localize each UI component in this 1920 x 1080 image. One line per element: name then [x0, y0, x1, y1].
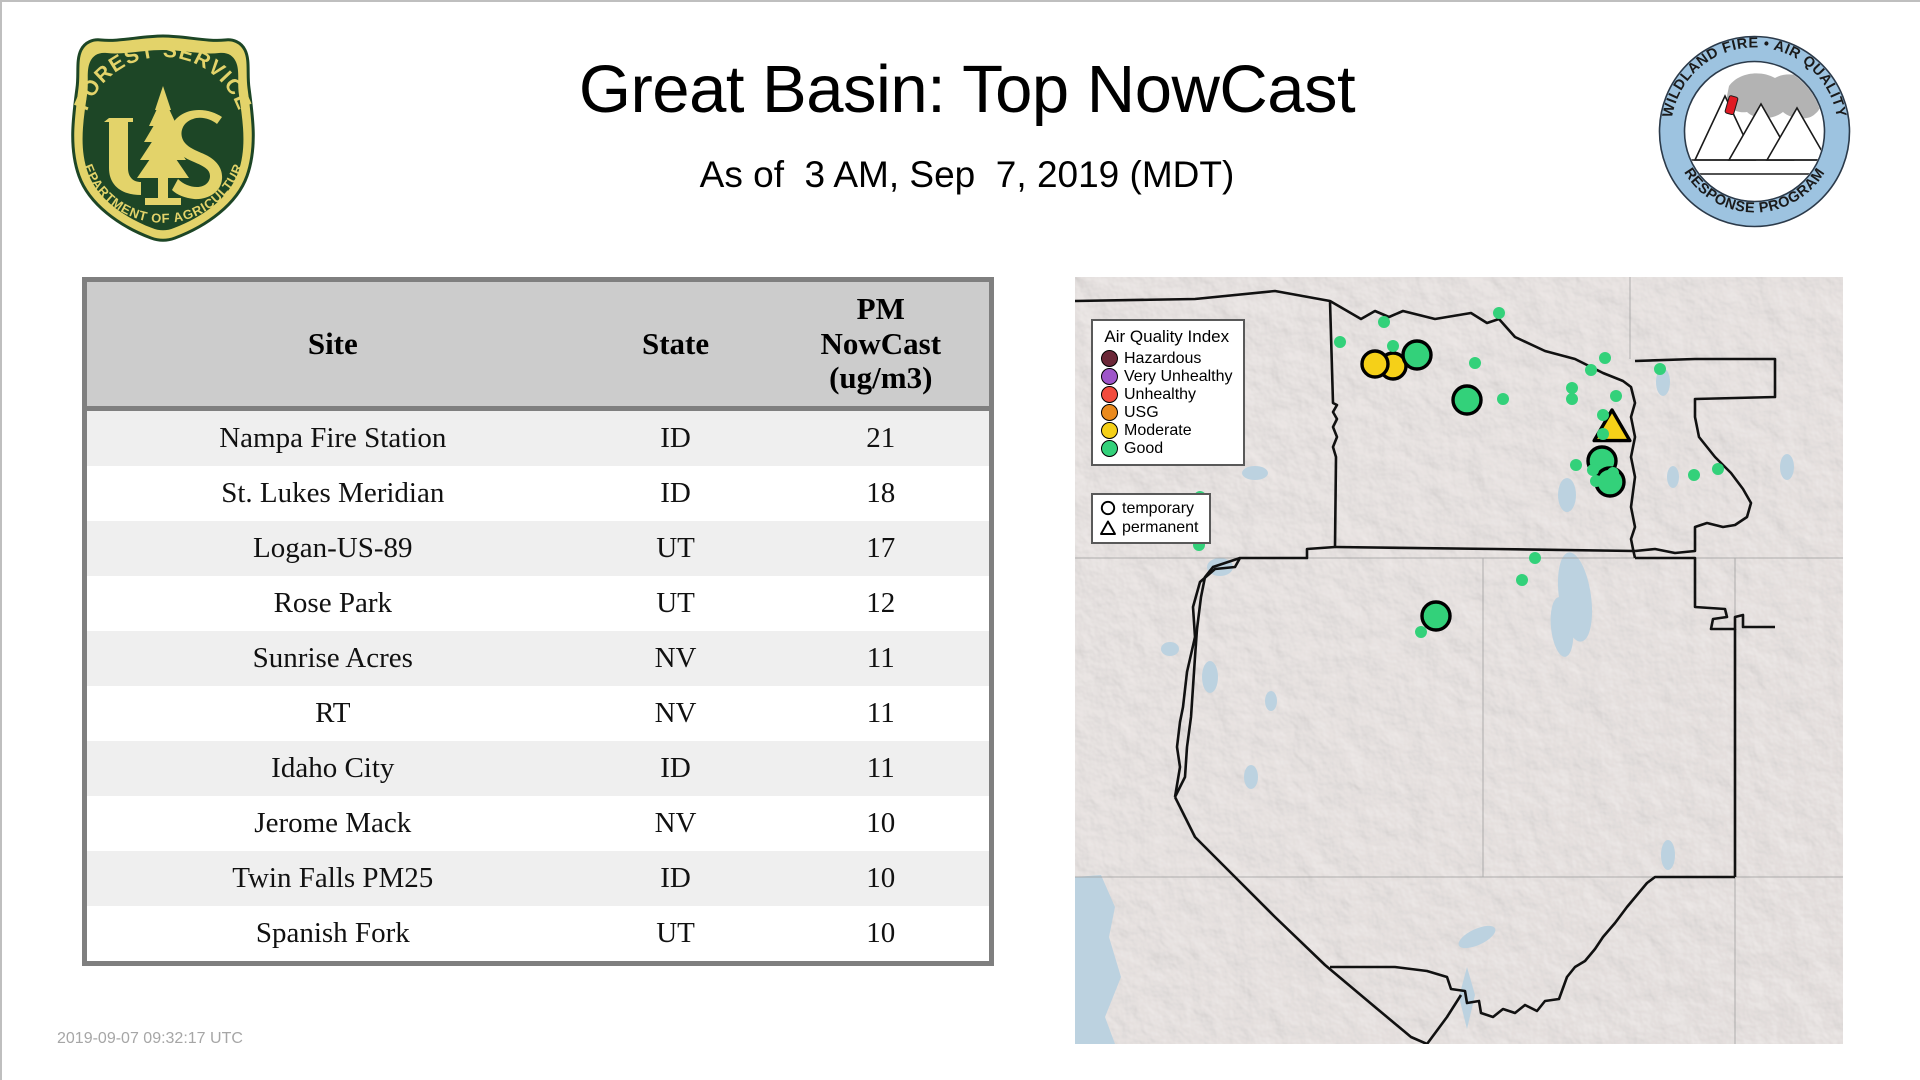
cell-site: Rose Park: [87, 576, 579, 631]
cell-pm-nowcast: 10: [773, 851, 989, 906]
sensor-legend-label-permanent: permanent: [1122, 520, 1199, 537]
aqi-legend-title: Air Quality Index: [1101, 327, 1233, 347]
table-row: RTNV11: [87, 686, 989, 741]
aqi-legend-label: USG: [1124, 405, 1159, 421]
cell-state: UT: [579, 576, 773, 631]
table-row: Rose ParkUT12: [87, 576, 989, 631]
aqi-legend-item: Unhealthy: [1101, 386, 1233, 403]
map-marker-small-site-28[interactable]: [1516, 574, 1528, 586]
page-subtitle: As of 3 AM, Sep 7, 2019 (MDT): [332, 154, 1602, 196]
map-marker-idaho-city[interactable]: [1403, 341, 1431, 369]
table-row: Jerome MackNV10: [87, 796, 989, 851]
map-marker-small-site-27[interactable]: [1529, 552, 1541, 564]
map-marker-small-site-16[interactable]: [1587, 464, 1599, 476]
table-row: Twin Falls PM25ID10: [87, 851, 989, 906]
map-marker-las-vegas-site[interactable]: [1422, 602, 1450, 630]
map-marker-twin-falls-pm25[interactable]: [1453, 386, 1481, 414]
map-marker-small-site-04[interactable]: [1387, 340, 1399, 352]
cell-pm-nowcast: 17: [773, 521, 989, 576]
map-marker-small-site-13[interactable]: [1597, 409, 1609, 421]
map-marker-small-site-11[interactable]: [1566, 393, 1578, 405]
title-block: Great Basin: Top NowCast As of 3 AM, Sep…: [332, 54, 1602, 196]
table-header: Site State PM NowCast (ug/m3): [87, 282, 989, 409]
table-header-row: Site State PM NowCast (ug/m3): [87, 282, 989, 409]
table-row: St. Lukes MeridianID18: [87, 466, 989, 521]
sensor-legend-item-permanent: permanent: [1099, 519, 1199, 537]
column-header-pm-line1: PM: [777, 292, 985, 327]
map-marker-small-site-10[interactable]: [1566, 382, 1578, 394]
us-forest-service-shield-logo: FOREST SERVICE DEPARTMENT OF AGRICULTURE: [57, 30, 269, 245]
map-marker-small-site-09[interactable]: [1497, 393, 1509, 405]
map-marker-small-site-15[interactable]: [1570, 459, 1582, 471]
map-marker-small-site-18[interactable]: [1607, 467, 1619, 479]
page-title: Great Basin: Top NowCast: [332, 54, 1602, 126]
column-header-pm-line3: (ug/m3): [777, 361, 985, 396]
cell-state: UT: [579, 521, 773, 576]
table-row: Sunrise AcresNV11: [87, 631, 989, 686]
cell-state: NV: [579, 796, 773, 851]
map-marker-small-site-05[interactable]: [1469, 357, 1481, 369]
aqi-swatch-very-unhealthy-icon: [1101, 368, 1118, 385]
aqi-swatch-good-icon: [1101, 440, 1118, 457]
cell-site: Nampa Fire Station: [87, 409, 579, 467]
cell-state: ID: [579, 466, 773, 521]
table-row: Nampa Fire StationID21: [87, 409, 989, 467]
aqi-legend-label: Moderate: [1124, 423, 1192, 439]
aqi-legend-item: Hazardous: [1101, 350, 1233, 367]
aqi-legend-label: Hazardous: [1124, 351, 1201, 367]
cell-site: Jerome Mack: [87, 796, 579, 851]
map-marker-small-site-19[interactable]: [1688, 469, 1700, 481]
map-marker-small-site-02[interactable]: [1493, 307, 1505, 319]
cell-state: UT: [579, 906, 773, 961]
cell-pm-nowcast: 18: [773, 466, 989, 521]
column-header-state: State: [579, 282, 773, 409]
cell-pm-nowcast: 11: [773, 631, 989, 686]
column-header-pm-line2: NowCast: [777, 327, 985, 362]
cell-pm-nowcast: 12: [773, 576, 989, 631]
cell-state: NV: [579, 631, 773, 686]
table-row: Logan-US-89UT17: [87, 521, 989, 576]
aqi-swatch-hazardous-icon: [1101, 350, 1118, 367]
wfaqrp-seal-icon: WILDLAND FIRE • AIR QUALITY RESPONSE PRO…: [1657, 34, 1852, 229]
wfaqrp-seal-logo: WILDLAND FIRE • AIR QUALITY RESPONSE PRO…: [1657, 34, 1852, 229]
cell-site: Spanish Fork: [87, 906, 579, 961]
cell-site: St. Lukes Meridian: [87, 466, 579, 521]
aqi-legend-label: Good: [1124, 441, 1163, 457]
cell-site: Idaho City: [87, 741, 579, 796]
cell-pm-nowcast: 11: [773, 686, 989, 741]
aqi-swatch-moderate-icon: [1101, 422, 1118, 439]
aqi-legend-label: Very Unhealthy: [1124, 369, 1233, 385]
cell-site: Logan-US-89: [87, 521, 579, 576]
cell-site: Twin Falls PM25: [87, 851, 579, 906]
table-row: Spanish ForkUT10: [87, 906, 989, 961]
cell-pm-nowcast: 10: [773, 906, 989, 961]
map-marker-st-lukes-meridian[interactable]: [1362, 351, 1388, 377]
map-marker-small-site-20[interactable]: [1712, 463, 1724, 475]
cell-state: ID: [579, 741, 773, 796]
map-marker-small-site-12[interactable]: [1610, 390, 1622, 402]
column-header-site: Site: [87, 282, 579, 409]
map-marker-small-site-03[interactable]: [1334, 336, 1346, 348]
aqi-legend-item: Moderate: [1101, 422, 1233, 439]
map-marker-small-site-29[interactable]: [1415, 626, 1427, 638]
air-quality-map[interactable]: Air Quality Index HazardousVery Unhealth…: [1075, 277, 1843, 1044]
sensor-legend-item-temporary: temporary: [1099, 500, 1199, 518]
table-row: Idaho CityID11: [87, 741, 989, 796]
nowcast-table-container: Site State PM NowCast (ug/m3) Nampa Fire…: [82, 277, 994, 966]
cell-state: ID: [579, 851, 773, 906]
aqi-swatch-usg-icon: [1101, 404, 1118, 421]
cell-pm-nowcast: 21: [773, 409, 989, 467]
permanent-triangle-icon: [1099, 519, 1117, 537]
table-body: Nampa Fire StationID21St. Lukes Meridian…: [87, 409, 989, 962]
cell-pm-nowcast: 10: [773, 796, 989, 851]
map-marker-small-site-06[interactable]: [1599, 352, 1611, 364]
aqi-legend-item: USG: [1101, 404, 1233, 421]
cell-pm-nowcast: 11: [773, 741, 989, 796]
cell-state: ID: [579, 409, 773, 467]
page-header: FOREST SERVICE DEPARTMENT OF AGRICULTURE…: [2, 2, 1920, 270]
map-marker-small-site-01[interactable]: [1378, 316, 1390, 328]
aqi-legend-item: Good: [1101, 440, 1233, 457]
aqi-legend-item: Very Unhealthy: [1101, 368, 1233, 385]
aqi-legend-label: Unhealthy: [1124, 387, 1196, 403]
map-marker-small-site-17[interactable]: [1590, 475, 1602, 487]
sensor-legend-label-temporary: temporary: [1122, 501, 1194, 518]
forest-service-shield-icon: FOREST SERVICE DEPARTMENT OF AGRICULTURE: [57, 30, 269, 245]
map-marker-small-site-07[interactable]: [1585, 364, 1597, 376]
map-marker-small-site-14[interactable]: [1597, 428, 1609, 440]
temporary-circle-icon: [1099, 500, 1117, 518]
cell-site: RT: [87, 686, 579, 741]
column-header-pm-nowcast: PM NowCast (ug/m3): [773, 282, 989, 409]
cell-site: Sunrise Acres: [87, 631, 579, 686]
footer-timestamp: 2019-09-07 09:32:17 UTC: [57, 1030, 243, 1048]
nowcast-table: Site State PM NowCast (ug/m3) Nampa Fire…: [87, 282, 989, 961]
aqi-legend-rows: HazardousVery UnhealthyUnhealthyUSGModer…: [1101, 350, 1233, 457]
map-marker-small-site-08[interactable]: [1654, 363, 1666, 375]
aqi-legend: Air Quality Index HazardousVery Unhealth…: [1091, 319, 1245, 466]
cell-state: NV: [579, 686, 773, 741]
sensor-type-legend: temporary permanent: [1091, 493, 1211, 544]
aqi-swatch-unhealthy-icon: [1101, 386, 1118, 403]
